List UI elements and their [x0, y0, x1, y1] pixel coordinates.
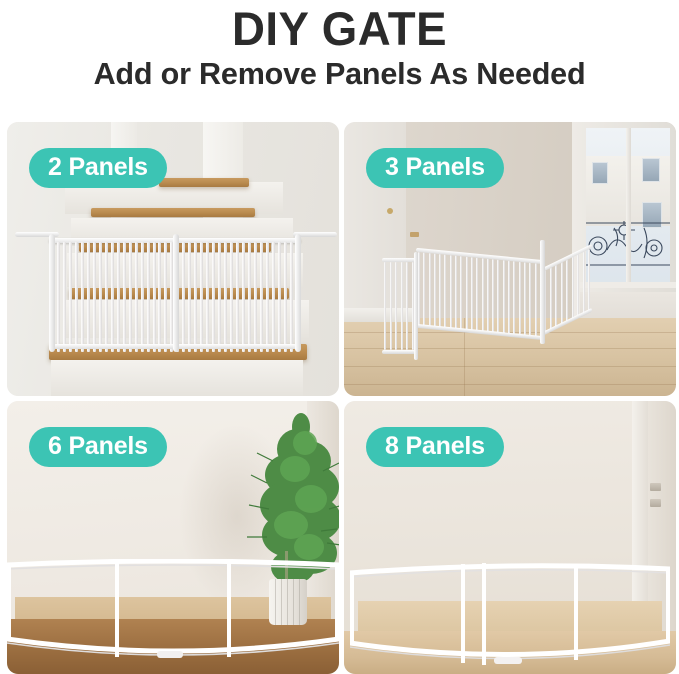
panel-count-badge: 3 Panels — [366, 148, 504, 188]
exterior-window — [642, 158, 660, 182]
door-mullion — [626, 128, 631, 288]
product-photo-2-panels[interactable]: 2 Panels — [7, 122, 339, 396]
gate-panel-main — [416, 248, 544, 364]
stair-riser — [51, 360, 303, 396]
door-latch — [410, 232, 419, 237]
gate-post — [540, 240, 545, 344]
safety-gate — [49, 232, 301, 352]
gate-post-center — [173, 234, 179, 352]
door-handle — [387, 208, 393, 214]
stair-tread — [159, 178, 249, 187]
gate-post-right — [295, 234, 301, 352]
door-hinge — [650, 499, 661, 507]
panel-count-badge: 8 Panels — [366, 427, 504, 467]
page-subtitle: Add or Remove Panels As Needed — [5, 54, 674, 94]
safety-gate — [350, 559, 670, 667]
door-hinge — [650, 483, 661, 491]
product-photo-3-panels[interactable]: 3 Panels — [344, 122, 676, 396]
door-rail — [580, 282, 676, 288]
product-photo-8-panels[interactable]: 8 Panels — [344, 401, 676, 674]
floor-plank-line — [344, 384, 676, 385]
panel-count-badge: 2 Panels — [29, 148, 167, 188]
page-title: DIY GATE — [10, 2, 669, 56]
safety-gate — [7, 559, 339, 663]
safety-gate — [382, 254, 582, 372]
header: DIY GATE Add or Remove Panels As Needed — [0, 0, 679, 94]
door-glass — [586, 128, 670, 288]
panel-grid: 2 Panels — [0, 118, 679, 674]
product-photo-6-panels[interactable]: 6 Panels — [7, 401, 339, 674]
potted-plant — [239, 413, 339, 583]
gate-wing-left — [382, 258, 416, 352]
gate-post-left — [49, 234, 55, 352]
exterior-window — [592, 162, 608, 184]
gate-post — [414, 252, 418, 360]
stair-tread — [91, 208, 255, 217]
panel-count-badge: 6 Panels — [29, 427, 167, 467]
